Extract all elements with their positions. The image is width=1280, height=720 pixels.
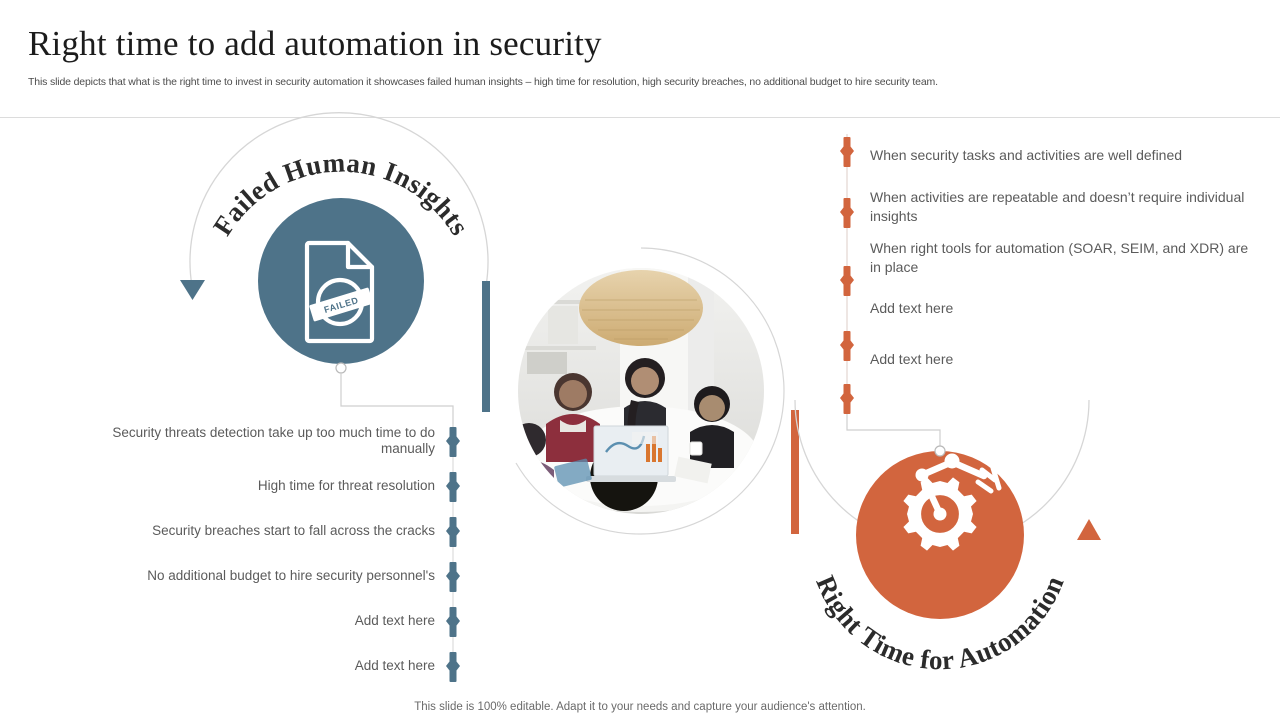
left-item-label: High time for threat resolution (258, 478, 435, 494)
list-item[interactable]: Security threats detection take up too m… (60, 418, 435, 463)
list-item[interactable]: No additional budget to hire security pe… (60, 553, 435, 598)
left-item-label: No additional budget to hire security pe… (147, 568, 435, 584)
timeline-marker (446, 427, 460, 457)
list-item[interactable]: Add text here (60, 598, 435, 643)
laptop-screen (586, 426, 676, 482)
left-item-label: Security threats detection take up too m… (60, 425, 435, 457)
right-item-label: When right tools for automation (SOAR, S… (870, 239, 1250, 277)
footer-note: This slide is 100% editable. Adapt it to… (0, 701, 1280, 713)
timeline-marker (446, 562, 460, 592)
right-item-label: Add text here (870, 350, 953, 369)
timeline-marker (840, 384, 854, 414)
list-item[interactable]: When security tasks and activities are w… (870, 130, 1250, 181)
left-items-list: Security threats detection take up too m… (60, 418, 435, 688)
left-item-label: Add text here (355, 658, 435, 674)
timeline-marker (840, 266, 854, 296)
timeline-marker (446, 652, 460, 682)
list-item[interactable]: Add text here (60, 643, 435, 688)
list-item[interactable]: When activities are repeatable and doesn… (870, 181, 1250, 232)
left-item-label: Security breaches start to fall across t… (152, 523, 435, 539)
list-item[interactable]: When right tools for automation (SOAR, S… (870, 232, 1250, 283)
right-connector (847, 404, 945, 456)
right-item-label: When security tasks and activities are w… (870, 146, 1182, 165)
list-item[interactable]: Security breaches start to fall across t… (60, 508, 435, 553)
right-item-label: When activities are repeatable and doesn… (870, 188, 1250, 226)
timeline-marker (446, 472, 460, 502)
left-connector-dot (336, 363, 346, 373)
right-item-label: Add text here (870, 299, 953, 318)
right-arc-arrow-icon (1077, 519, 1101, 540)
left-item-label: Add text here (355, 613, 435, 629)
list-item[interactable]: Add text here (870, 334, 1250, 385)
timeline-marker (840, 331, 854, 361)
timeline-marker (446, 517, 460, 547)
timeline-marker (840, 137, 854, 167)
diagram-stage: Failed Human Insights FAILED (0, 0, 1280, 720)
left-accent-bar (482, 281, 490, 412)
right-items-list: When security tasks and activities are w… (870, 130, 1250, 385)
list-item[interactable]: High time for threat resolution (60, 463, 435, 508)
timeline-marker (446, 607, 460, 637)
right-connector-line (847, 404, 940, 448)
left-arc-arrow-icon (180, 280, 205, 300)
right-connector-dot (935, 446, 945, 456)
timeline-marker (840, 198, 854, 228)
list-item[interactable]: Add text here (870, 283, 1250, 334)
center-photo (504, 268, 778, 602)
